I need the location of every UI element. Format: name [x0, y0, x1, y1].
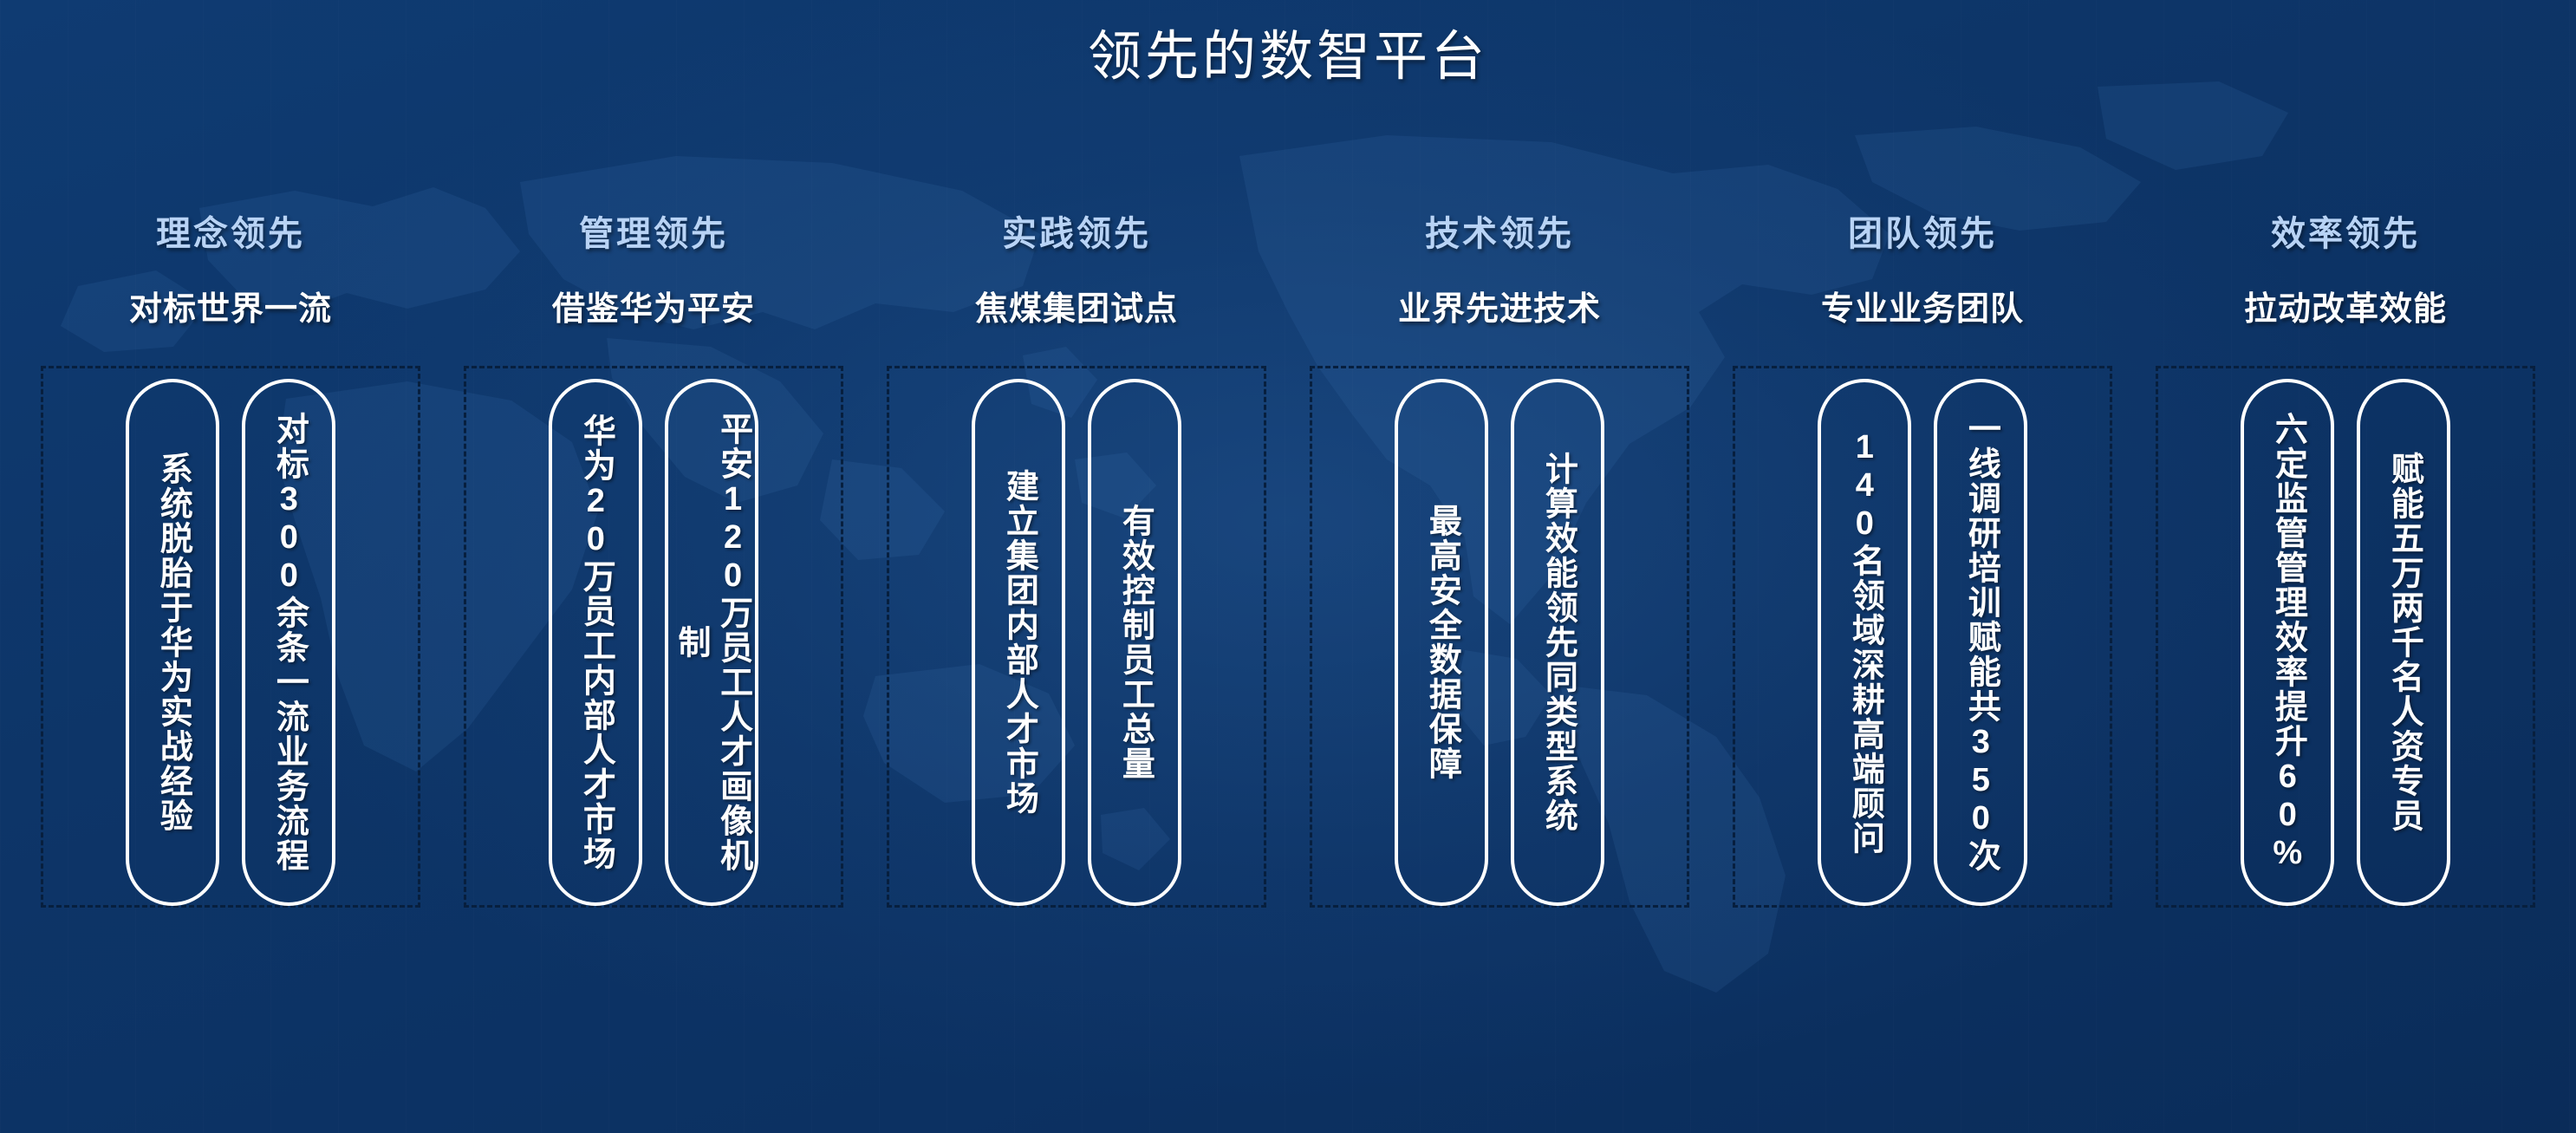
pill-capsule[interactable]: 六定监管管理效率提升60%	[2241, 379, 2334, 906]
pill-label: 华为20万员工内部人才市场	[575, 413, 617, 871]
page-title: 领先的数智平台	[0, 12, 2576, 90]
pill-frame: 系统脱胎于华为实战经验 对标300余条一流业务流程	[41, 366, 420, 908]
pill-label: 有效控制员工总量	[1114, 504, 1156, 781]
pill-label: 建立集团内部人才市场	[998, 469, 1040, 816]
pill-capsule[interactable]: 一线调研培训赋能共350次	[1934, 379, 2027, 906]
pill-capsule[interactable]: 建立集团内部人才市场	[972, 379, 1065, 906]
column-heading: 管理领先	[579, 217, 728, 257]
pill-frame: 华为20万员工内部人才市场 平安120万员工人才画像机制	[464, 366, 843, 908]
pill-frame: 建立集团内部人才市场 有效控制员工总量	[887, 366, 1266, 908]
pill-capsule[interactable]: 计算效能领先同类型系统	[1511, 379, 1604, 906]
pill-capsule[interactable]: 有效控制员工总量	[1088, 379, 1181, 906]
pill-frame: 六定监管管理效率提升60% 赋能五万两千名人资专员	[2156, 366, 2535, 908]
pill-label: 赋能五万两千名人资专员	[2383, 452, 2425, 833]
pill-capsule[interactable]: 对标300余条一流业务流程	[242, 379, 335, 906]
column-技术领先: 技术领先 业界先进技术 最高安全数据保障 计算效能领先同类型系统	[1304, 217, 1695, 908]
pill-label: 140名领域深耕高端顾问	[1844, 429, 1886, 856]
pill-capsule[interactable]: 最高安全数据保障	[1395, 379, 1488, 906]
column-heading: 理念领先	[156, 217, 305, 257]
pill-label: 对标300余条一流业务流程	[268, 412, 310, 873]
column-理念领先: 理念领先 对标世界一流 系统脱胎于华为实战经验 对标300余条一流业务流程	[35, 217, 426, 908]
pill-label: 平安120万员工人才画像机制	[669, 400, 753, 885]
columns-container: 理念领先 对标世界一流 系统脱胎于华为实战经验 对标300余条一流业务流程 管理…	[35, 217, 2541, 1084]
pill-capsule[interactable]: 系统脱胎于华为实战经验	[126, 379, 219, 906]
column-subheading: 业界先进技术	[1398, 293, 1601, 331]
column-管理领先: 管理领先 借鉴华为平安 华为20万员工内部人才市场 平安120万员工人才画像机制	[458, 217, 849, 908]
pill-label: 六定监管管理效率提升60%	[2267, 412, 2309, 873]
pill-frame: 最高安全数据保障 计算效能领先同类型系统	[1310, 366, 1689, 908]
column-subheading: 拉动改革效能	[2244, 293, 2447, 331]
pill-capsule[interactable]: 华为20万员工内部人才市场	[549, 379, 642, 906]
pill-label: 一线调研培训赋能共350次	[1960, 412, 2002, 873]
column-heading: 实践领先	[1002, 217, 1151, 257]
pill-label: 计算效能领先同类型系统	[1537, 452, 1579, 833]
column-subheading: 专业业务团队	[1821, 293, 2024, 331]
column-heading: 技术领先	[1425, 217, 1574, 257]
column-heading: 团队领先	[1848, 217, 1997, 257]
column-实践领先: 实践领先 焦煤集团试点 建立集团内部人才市场 有效控制员工总量	[881, 217, 1272, 908]
column-heading: 效率领先	[2271, 217, 2420, 257]
pill-frame: 140名领域深耕高端顾问 一线调研培训赋能共350次	[1733, 366, 2112, 908]
column-subheading: 对标世界一流	[129, 293, 332, 331]
slide-canvas: 领先的数智平台 理念领先 对标世界一流 系统脱胎于华为实战经验 对标300余条一…	[0, 0, 2576, 1133]
pill-capsule[interactable]: 平安120万员工人才画像机制	[665, 379, 758, 906]
pill-label: 系统脱胎于华为实战经验	[152, 452, 194, 833]
column-subheading: 焦煤集团试点	[975, 293, 1178, 331]
column-效率领先: 效率领先 拉动改革效能 六定监管管理效率提升60% 赋能五万两千名人资专员	[2150, 217, 2541, 908]
pill-capsule[interactable]: 赋能五万两千名人资专员	[2357, 379, 2450, 906]
column-团队领先: 团队领先 专业业务团队 140名领域深耕高端顾问 一线调研培训赋能共350次	[1727, 217, 2118, 908]
pill-capsule[interactable]: 140名领域深耕高端顾问	[1818, 379, 1911, 906]
column-subheading: 借鉴华为平安	[552, 293, 755, 331]
pill-label: 最高安全数据保障	[1421, 504, 1463, 781]
